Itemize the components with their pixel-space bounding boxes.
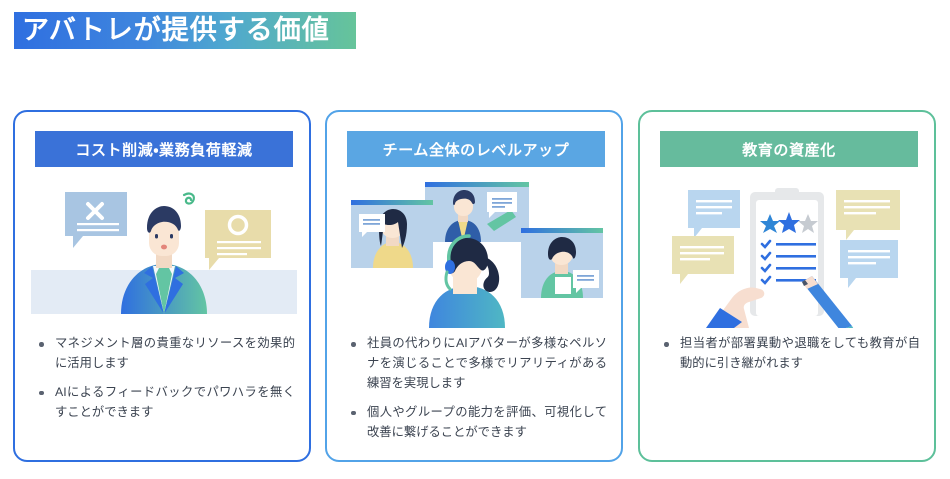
card-heading-text: チーム全体のレベルアップ [383,139,570,160]
bubble-top-left [688,190,740,238]
value-card-education-asset[interactable]: 教育の資産化 [638,110,936,462]
bubble-mid-left [672,236,734,284]
card-heading-text: コスト削減・業務負荷軽減 [75,139,252,160]
video-window-center [425,182,529,242]
page-title: アバトレが提供する価値 [22,17,330,44]
foreground-person-headset [429,236,505,328]
bullet-list-team-level-up: 社員の代わりにAIアバターが多様なペルソナを演じることで多様でリアリティがある練… [345,334,607,452]
bullet-list-education-asset: 担当者が部署異動や退職をしても教育が自動的に引き継がれます [658,334,920,383]
bubble-x [65,192,127,248]
video-window-right [521,228,603,298]
list-item: 担当者が部署異動や退職をしても教育が自動的に引き継がれます [658,334,920,374]
bullet-list-cost-reduction: マネジメント層の貴重なリソースを効果的に活用します AIによるフィードバックでパ… [33,334,295,432]
value-card-cost-reduction[interactable]: コスト削減・業務負荷軽減 [13,110,311,462]
illustration-clipboard-evaluation [650,178,928,328]
bubble-o [205,210,271,270]
value-card-team-level-up[interactable]: チーム全体のレベルアップ [325,110,623,462]
video-window-left [351,200,433,268]
card-header-education-asset: 教育の資産化 [660,131,918,167]
card-heading-text: 教育の資産化 [742,139,836,160]
list-item: マネジメント層の貴重なリソースを効果的に活用します [33,334,295,374]
list-item: 個人やグループの能力を評価、可視化して改善に繋げることができます [345,403,607,443]
value-cards-row: コスト削減・業務負荷軽減 [0,110,950,462]
slide-root: アバトレが提供する価値 コスト削減・業務負荷軽減 [0,0,950,479]
bubble-mid-right [840,240,898,288]
page-title-band: アバトレが提供する価値 [14,12,356,49]
card-header-team-level-up: チーム全体のレベルアップ [347,131,605,167]
card-header-cost-reduction: コスト削減・業務負荷軽減 [35,131,293,167]
illustration-businessman-feedback [25,178,303,328]
bubble-top-right [836,190,900,240]
list-item: 社員の代わりにAIアバターが多様なペルソナを演じることで多様でリアリティがある練… [345,334,607,394]
list-item: AIによるフィードバックでパワハラを無くすことができます [33,383,295,423]
illustration-video-conference [337,178,615,328]
